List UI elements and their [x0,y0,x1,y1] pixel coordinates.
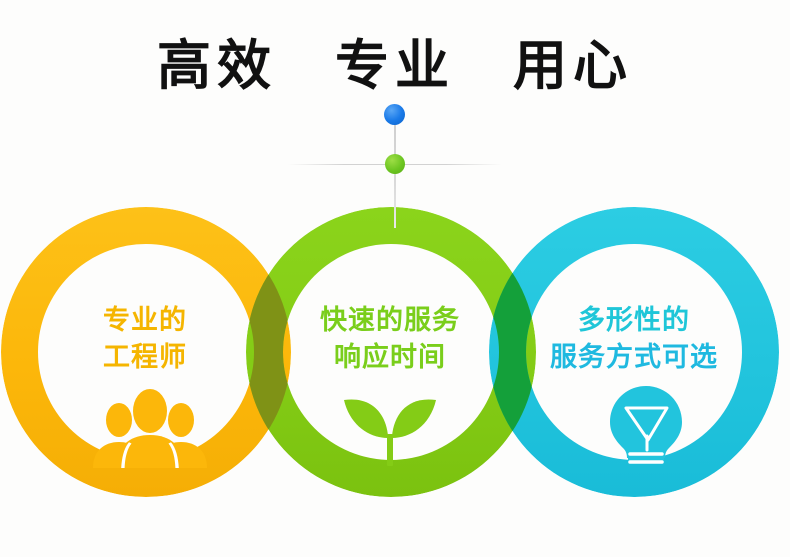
connector-green-dot-icon [385,154,405,174]
infographic-canvas: 高效 专业 用心 专业的 工程师 快速的服务 响应时间 多形性的 服务方式可选 [0,0,790,557]
connector-blue-dot-icon [384,104,405,125]
venn-diagram [0,0,790,557]
overlap-green-cyan [0,0,790,557]
